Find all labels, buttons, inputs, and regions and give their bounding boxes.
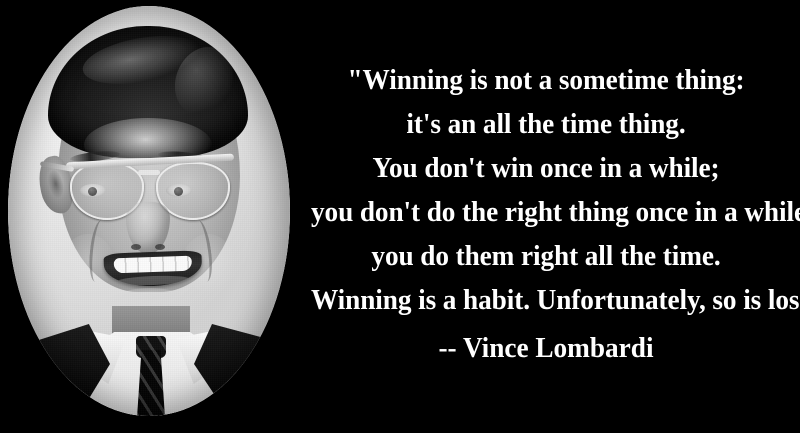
quote-line-5: you do them right all the time. xyxy=(311,234,781,278)
quote-line-1: "Winning is not a sometime thing: xyxy=(311,58,781,102)
quote-line-6: Winning is a habit. Unfortunately, so is… xyxy=(311,278,781,322)
quote-line-3: You don't win once in a while; xyxy=(311,146,781,190)
quote-poster: "Winning is not a sometime thing: it's a… xyxy=(0,0,800,433)
quote-attribution: -- Vince Lombardi xyxy=(311,326,781,370)
portrait-oval-frame xyxy=(8,6,290,416)
quote-line-2: it's an all the time thing. xyxy=(311,102,781,146)
quote-line-4: you don't do the right thing once in a w… xyxy=(311,190,781,234)
photo-grain-texture xyxy=(8,6,290,416)
quote-text: "Winning is not a sometime thing: it's a… xyxy=(296,58,796,322)
portrait-photo xyxy=(8,6,290,416)
